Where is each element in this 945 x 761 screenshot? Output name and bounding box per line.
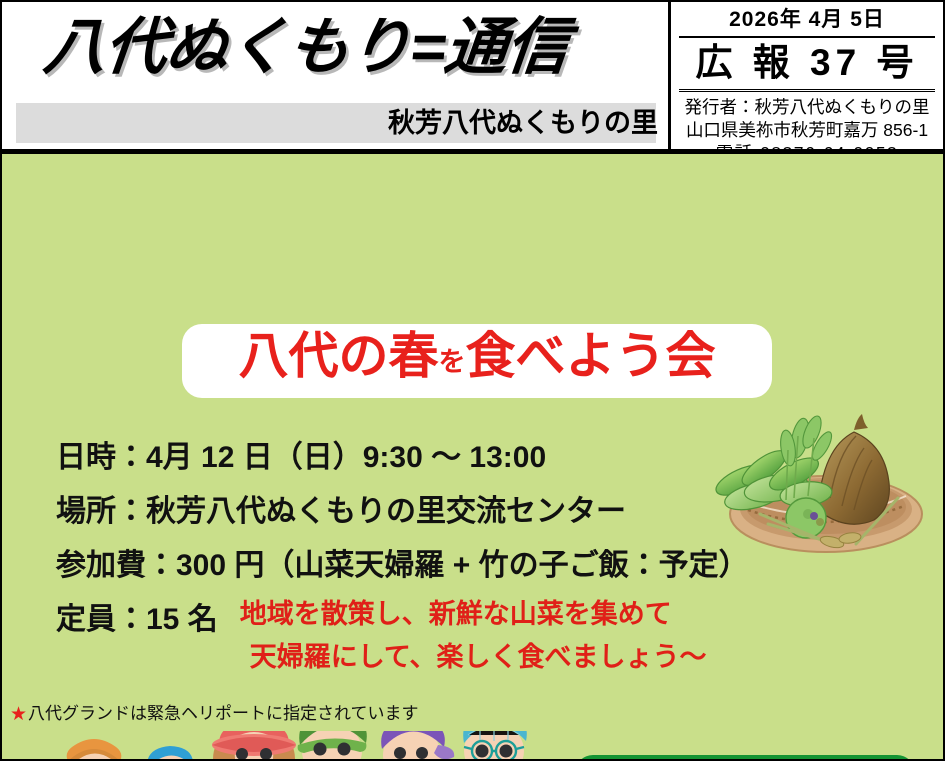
- newsletter-body: 八代の春を食べよう会: [2, 154, 943, 731]
- event-title-small-wo: を: [439, 347, 466, 377]
- event-title-banner: 八代の春を食べよう会: [182, 324, 772, 398]
- star-icon: ★: [10, 705, 27, 724]
- issue-date: 2026年 4月 5日: [679, 6, 935, 38]
- newsletter-page: 八代ぬくもり=通信 秋芳八代ぬくもりの里 2026年 4月 5日 広 報 37 …: [0, 0, 945, 761]
- issue-panel: 2026年 4月 5日 広 報 37 号 発行者：秋芳八代ぬくもりの里 山口県美…: [671, 2, 943, 149]
- event-title-part2: 食べよう会: [466, 328, 716, 384]
- masthead: 八代ぬくもり=通信 秋芳八代ぬくもりの里: [2, 2, 671, 149]
- issue-number: 広 報 37 号: [679, 38, 935, 92]
- footer-note: ★ 八代グランドは緊急ヘリポートに指定されています: [2, 697, 943, 731]
- masthead-title: 八代ぬくもり=通信: [40, 10, 648, 86]
- event-capacity: 定員：15 名: [56, 593, 218, 647]
- footer-text: 八代グランドは緊急ヘリポートに指定されています: [28, 704, 419, 724]
- event-capacity-row: 定員：15 名 地域を散策し、新鮮な山菜を集めて 天婦羅にして、楽しく食べましょ…: [56, 593, 756, 679]
- event-fee: 参加費：300 円（山菜天婦羅 + 竹の子ご飯：予定）: [56, 539, 756, 593]
- event-details: 日時：4月 12 日（日）9:30 〜 13:00 場所：秋芳八代ぬくもりの里交…: [56, 431, 756, 679]
- newsletter-header: 八代ぬくもり=通信 秋芳八代ぬくもりの里 2026年 4月 5日 広 報 37 …: [2, 2, 943, 154]
- event-place: 場所：秋芳八代ぬくもりの里交流センター: [56, 485, 756, 539]
- publisher-address: 山口県美祢市秋芳町嘉万 856-1: [679, 119, 935, 142]
- callout-box: 野山を散策できる 支度でお越し下さい: [575, 755, 915, 761]
- event-title-part1: 八代の春: [239, 328, 439, 384]
- event-note: 地域を散策し、新鮮な山菜を集めて 天婦羅にして、楽しく食べましょう〜: [240, 593, 707, 679]
- event-title: 八代の春を食べよう会: [239, 328, 716, 390]
- publisher-name: 発行者：秋芳八代ぬくもりの里: [679, 96, 935, 119]
- masthead-subtitle: 秋芳八代ぬくもりの里: [388, 105, 658, 141]
- event-note-line2: 天婦羅にして、楽しく食べましょう〜: [240, 636, 707, 679]
- event-note-line1: 地域を散策し、新鮮な山菜を集めて: [240, 599, 672, 629]
- event-datetime: 日時：4月 12 日（日）9:30 〜 13:00: [56, 431, 756, 485]
